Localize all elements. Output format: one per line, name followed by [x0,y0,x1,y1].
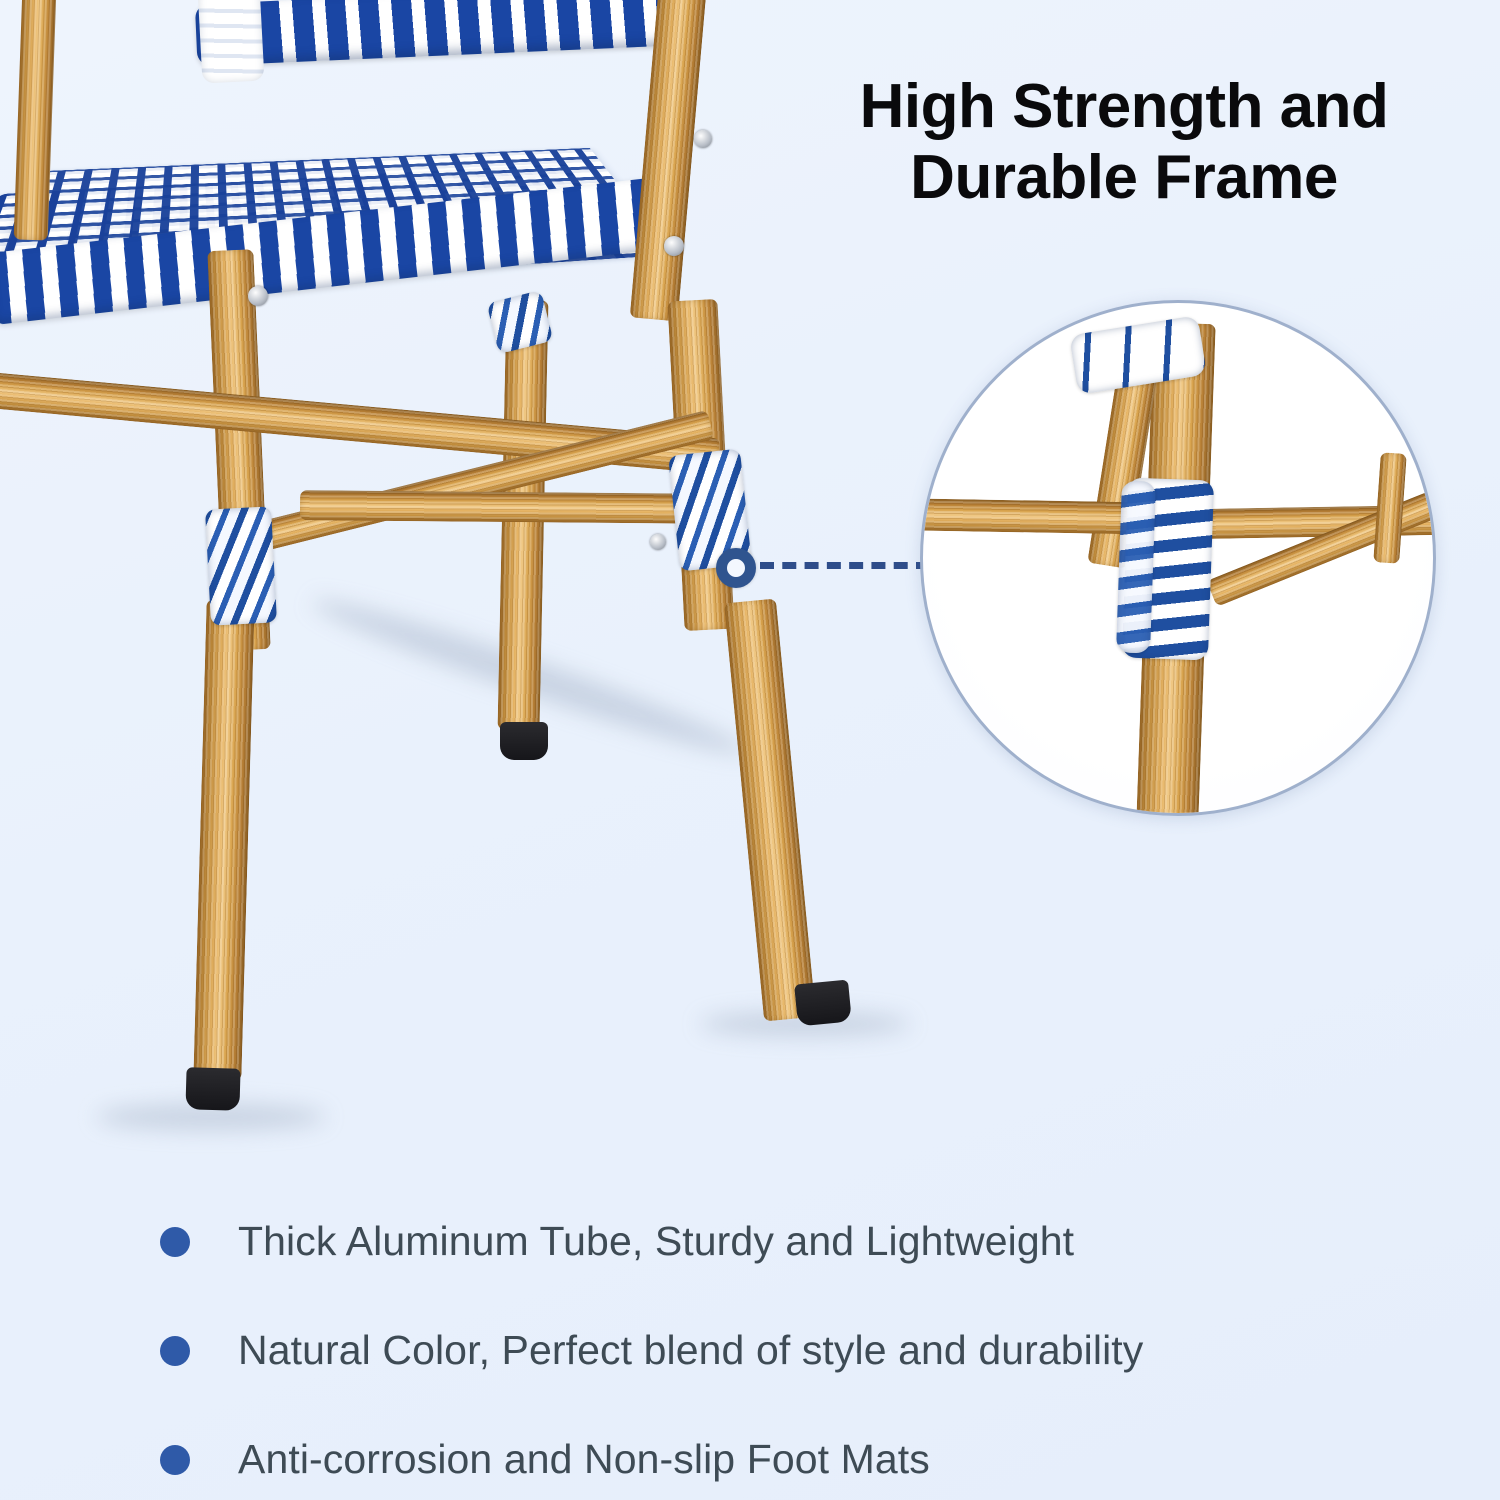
joint-wrap-left [205,506,277,625]
foot-cap-front-left [185,1067,240,1110]
list-item: Anti-corrosion and Non-slip Foot Mats [160,1436,1440,1483]
feature-list: Thick Aluminum Tube, Sturdy and Lightwei… [160,1218,1440,1500]
leg-front-right-lower [724,598,816,1021]
screw-stretcher-right [650,534,666,550]
list-item: Natural Color, Perfect blend of style an… [160,1327,1440,1374]
stretcher-lower-horizontal [300,490,720,524]
backrest-post-white-wrap [198,0,265,84]
zoom-post-right [1373,452,1407,564]
magnifier-content [923,303,1433,813]
joint-detail-anchor-node[interactable] [716,548,756,588]
product-feature-image: High Strength and Durable Frame Thick Al… [0,0,1500,1500]
feature-text: Natural Color, Perfect blend of style an… [238,1327,1143,1374]
foot-cap-front-right [794,980,852,1027]
bullet-dot-icon [160,1445,190,1475]
feature-text: Thick Aluminum Tube, Sturdy and Lightwei… [238,1218,1074,1265]
leg-front-right-upper [630,0,707,321]
bullet-dot-icon [160,1227,190,1257]
headline-line-2: Durable Frame [804,143,1444,214]
zoom-joint-spiral-overlay [1116,480,1156,653]
foot-cap-rear-center [500,722,548,760]
backrest-rail-band [195,0,667,66]
leg-front-left-lower [193,599,254,1080]
joint-detail-magnifier [920,300,1436,816]
headline-line-1: High Strength and [860,72,1389,141]
screw-frame-right-lower [664,236,684,256]
feature-text: Anti-corrosion and Non-slip Foot Mats [238,1436,930,1483]
screw-seat-left [248,286,268,306]
screw-frame-right-upper [694,130,712,148]
page-headline: High Strength and Durable Frame [804,72,1444,213]
list-item: Thick Aluminum Tube, Sturdy and Lightwei… [160,1218,1440,1265]
bullet-dot-icon [160,1336,190,1366]
callout-dash-connector [760,562,930,569]
